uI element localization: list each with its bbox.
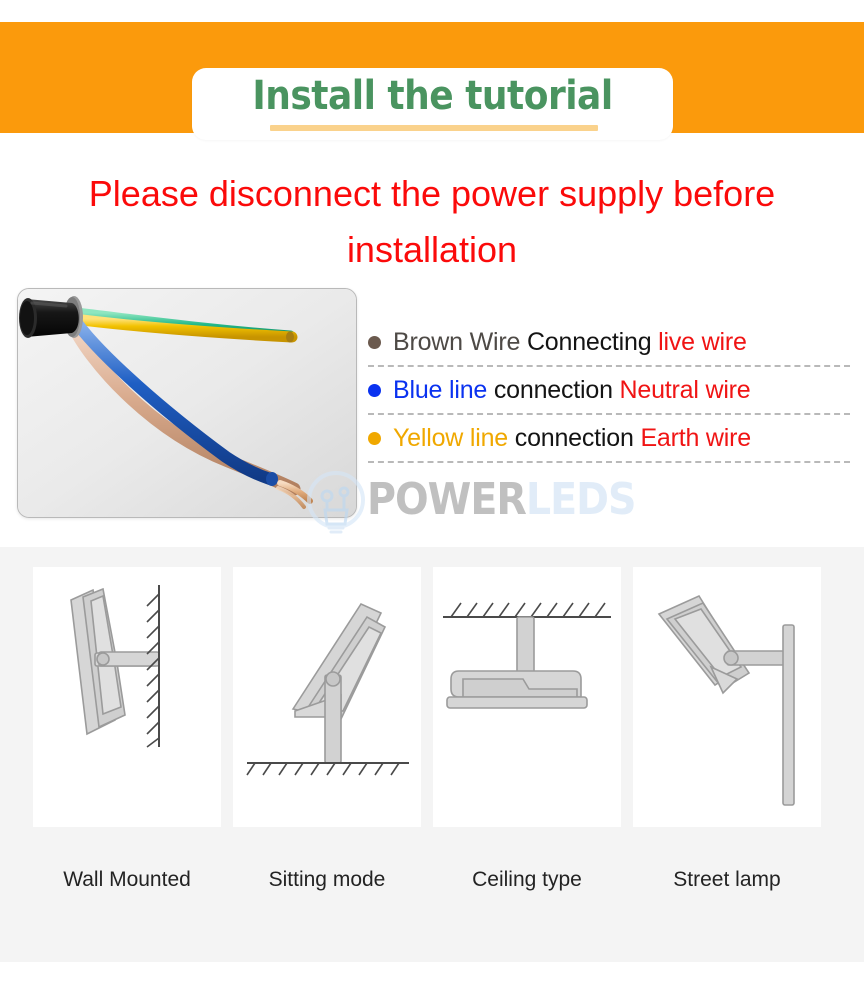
legend-yellow-label: Yellow line bbox=[393, 424, 515, 452]
legend-brown-target: live wire bbox=[658, 328, 747, 356]
caption-ceiling-type: Ceiling type bbox=[433, 865, 621, 905]
banner-title-card: Install the tutorial bbox=[192, 68, 673, 140]
mounting-cards bbox=[33, 567, 831, 827]
street-lamp-diagram bbox=[633, 567, 821, 827]
legend-yellow-verb: connection bbox=[515, 424, 641, 452]
cable-photo bbox=[17, 288, 357, 518]
wall-mounted-diagram bbox=[33, 567, 221, 827]
warning-line-1: Please disconnect the power supply befor… bbox=[0, 166, 864, 222]
cable-illustration bbox=[18, 289, 356, 517]
warning-text: Please disconnect the power supply befor… bbox=[0, 166, 864, 278]
mounting-card-street-lamp[interactable] bbox=[633, 567, 821, 827]
page-title: Install the tutorial bbox=[192, 66, 673, 126]
watermark-text: POWERLEDS bbox=[367, 472, 636, 528]
legend-yellow-target: Earth wire bbox=[640, 424, 751, 452]
legend-blue-label: Blue line bbox=[393, 376, 494, 404]
header-banner: Install the tutorial bbox=[0, 22, 864, 133]
caption-street-lamp: Street lamp bbox=[633, 865, 821, 905]
brown-wire-dot bbox=[368, 336, 381, 349]
yellow-wire-dot bbox=[368, 432, 381, 445]
watermark-part-1: POWER bbox=[367, 474, 526, 525]
title-underline bbox=[270, 125, 598, 131]
watermark-part-2: LEDS bbox=[526, 474, 636, 525]
caption-wall-mounted: Wall Mounted bbox=[33, 865, 221, 905]
caption-sitting-mode: Sitting mode bbox=[233, 865, 421, 905]
sitting-mode-diagram bbox=[233, 567, 421, 827]
legend-brown-label: Brown Wire bbox=[393, 328, 527, 356]
legend-blue-target: Neutral wire bbox=[620, 376, 751, 404]
ceiling-type-diagram bbox=[433, 567, 621, 827]
legend-row-blue: Blue line connection Neutral wire bbox=[368, 370, 850, 410]
legend-separator-2 bbox=[368, 413, 850, 415]
tutorial-page: Install the tutorial Please disconnect t… bbox=[0, 0, 864, 1000]
legend-row-brown: Brown Wire Connecting live wire bbox=[368, 322, 850, 362]
legend-blue-verb: connection bbox=[494, 376, 620, 404]
mounting-options-section: Wall Mounted Sitting mode Ceiling type S… bbox=[0, 547, 864, 962]
mounting-card-wall-mounted[interactable] bbox=[33, 567, 221, 827]
legend-separator-3 bbox=[368, 461, 850, 463]
legend-row-yellow: Yellow line connection Earth wire bbox=[368, 418, 850, 458]
warning-line-2: installation bbox=[0, 222, 864, 278]
legend-brown-verb: Connecting bbox=[527, 328, 658, 356]
mounting-card-ceiling-type[interactable] bbox=[433, 567, 621, 827]
mounting-captions: Wall Mounted Sitting mode Ceiling type S… bbox=[33, 865, 831, 905]
legend-separator-1 bbox=[368, 365, 850, 367]
wiring-legend: Brown Wire Connecting live wire Blue lin… bbox=[368, 322, 850, 466]
blue-wire-dot bbox=[368, 384, 381, 397]
mounting-card-sitting-mode[interactable] bbox=[233, 567, 421, 827]
